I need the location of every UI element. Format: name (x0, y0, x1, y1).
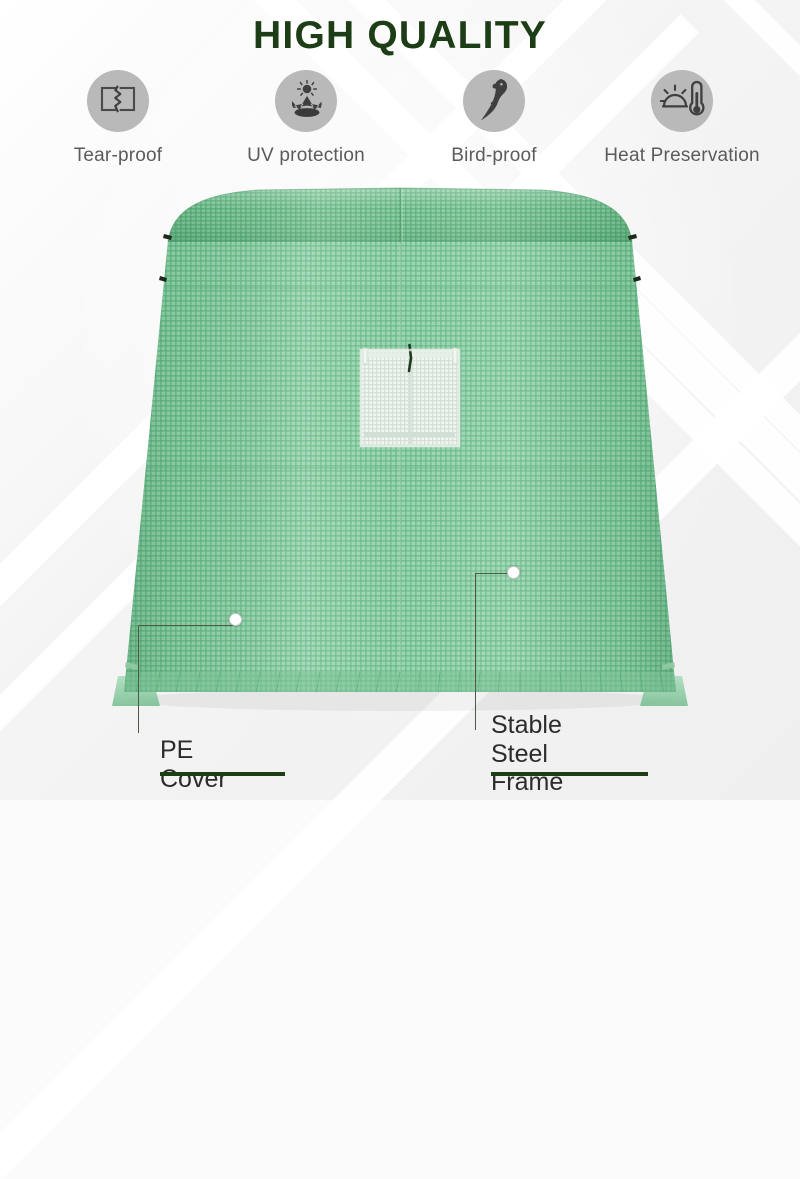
callout-leader-vertical (138, 625, 139, 733)
callout-leader-vertical (475, 573, 476, 730)
greenhouse-product-image (0, 0, 800, 800)
callout-label: PE Cover (160, 736, 227, 793)
greenhouse-body (120, 236, 680, 696)
callout-leader-horizontal (138, 625, 238, 626)
product-ground-shadow (128, 689, 672, 711)
callout-dot (507, 566, 520, 579)
mesh-roll-up-window[interactable] (361, 345, 459, 446)
callout-label: Stable Steel Frame (491, 711, 563, 797)
greenhouse-roof (160, 184, 640, 248)
callout-dot (229, 613, 242, 626)
callout-underline (160, 772, 285, 776)
callout-underline (491, 772, 648, 776)
